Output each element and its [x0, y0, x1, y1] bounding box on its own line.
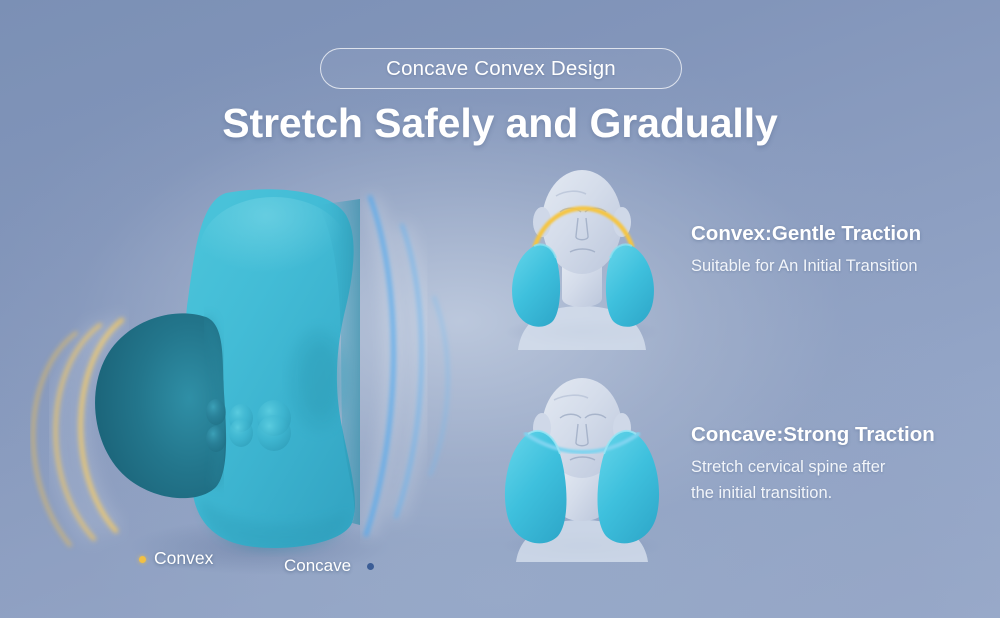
convex-demo-figure: [482, 160, 682, 350]
convex-feature-description: Suitable for An Initial Transition: [691, 254, 921, 280]
concave-feature-text: Concave:Strong Traction Stretch cervical…: [691, 423, 935, 506]
pillow-illustration: Convex Concave: [30, 175, 460, 575]
pillow-wing-right: [606, 245, 654, 327]
convex-label: Convex: [154, 548, 213, 569]
convex-marker-dot: [139, 556, 146, 563]
design-badge-label: Concave Convex Design: [386, 57, 616, 81]
concave-feature-description-line1: Stretch cervical spine after: [691, 455, 935, 481]
concave-marker-dot: [367, 563, 374, 570]
pillow-convex-lobe: [95, 313, 226, 498]
product-banner: Concave Convex Design Stretch Safely and…: [0, 0, 1000, 618]
concave-feature-title: Concave:Strong Traction: [691, 423, 935, 447]
pillow-concave-well-inner: [302, 344, 338, 416]
convex-mannequin-graphic: [482, 160, 682, 350]
convex-feature-title: Convex:Gentle Traction: [691, 222, 921, 246]
concave-feature-description-line2: the initial transition.: [691, 481, 935, 507]
pillow-graphic: [30, 175, 460, 575]
concave-mannequin-graphic: [482, 372, 682, 562]
convex-feature-text: Convex:Gentle Traction Suitable for An I…: [691, 222, 921, 280]
concave-label: Concave: [284, 556, 351, 576]
design-badge: Concave Convex Design: [320, 48, 682, 89]
page-title: Stretch Safely and Gradually: [0, 100, 1000, 147]
pillow-wing-left: [512, 245, 560, 327]
concave-demo-figure: [482, 372, 682, 562]
